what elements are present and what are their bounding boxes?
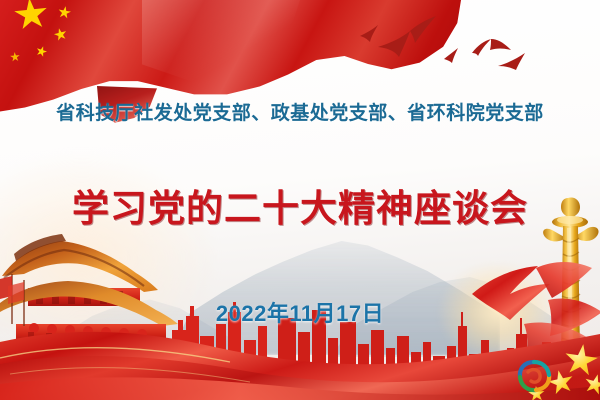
organization-subtitle: 省科技厅社发处党支部、政基处党支部、省环科院党支部 xyxy=(0,98,600,125)
event-banner: 省科技厅社发处党支部、政基处党支部、省环科院党支部 学习党的二十大精神座谈会 2… xyxy=(0,0,600,400)
flying-doves-icon xyxy=(352,14,582,84)
circular-emblem-logo xyxy=(514,356,554,396)
page-title: 学习党的二十大精神座谈会 xyxy=(0,178,600,232)
event-date: 2022年11月17日 xyxy=(0,296,600,328)
